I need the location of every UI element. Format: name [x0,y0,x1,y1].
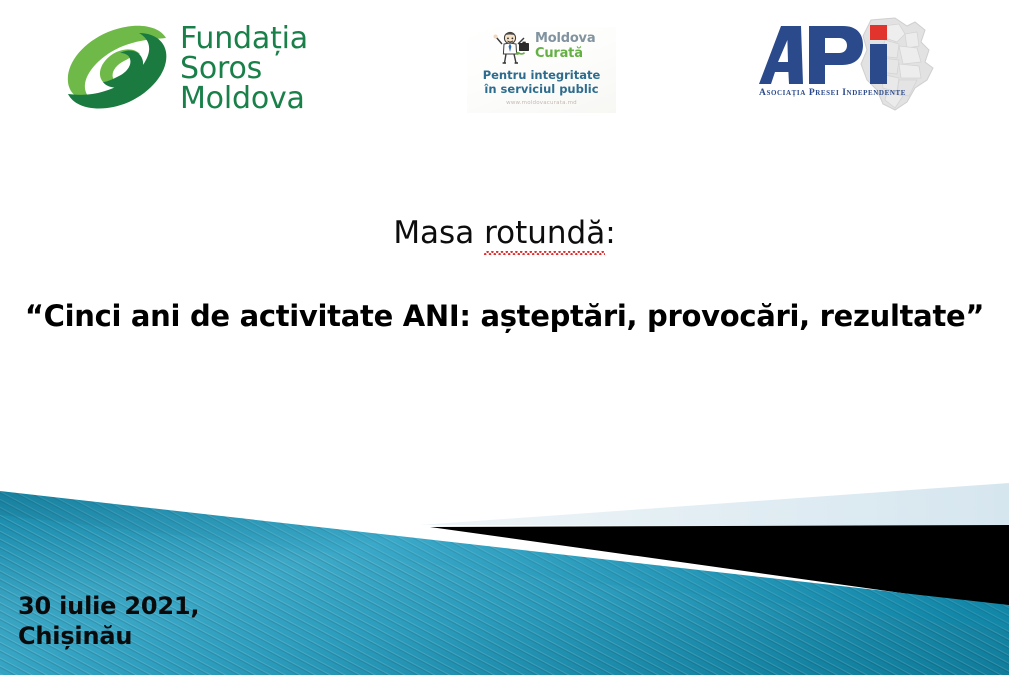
soros-wordmark-line-2: Soros [180,54,380,84]
businessman-mascot-icon [491,30,531,64]
logo-fundatia-soros-moldova: Fundația Soros Moldova [62,18,312,118]
logo-api: Asociația Presei Independente [757,16,957,114]
moldova-curata-word-moldova: Moldova [535,31,595,46]
slide-title: Masa rotundă: [0,213,1009,253]
slide-date: 30 iulie 2021, [18,591,199,621]
slide-title-suffix: : [605,215,615,251]
soros-spiral-icon [62,20,172,116]
moldova-curata-wordmark: Moldova Curată [535,31,595,61]
slide-city: Chișinău [18,621,199,651]
logo-row: Fundația Soros Moldova [0,0,1009,130]
api-acronym-lettermark [757,24,907,86]
moldova-curata-url: www.moldovacurata.md [467,100,616,106]
slide-title-misspelled-word: rotundă [484,213,605,253]
presentation-slide: Fundația Soros Moldova [0,0,1009,675]
logo-moldova-curata: Moldova Curată Pentru integritate în ser… [467,27,616,113]
moldova-curata-tagline-line-1: Pentru integritate [467,68,616,82]
slide-title-prefix: Masa [393,215,484,251]
moldova-curata-tagline-line-2: în serviciul public [467,82,616,96]
soros-wordmark-line-1: Fundația [180,24,380,54]
decorative-bottom-banner: 30 iulie 2021, Chișinău [0,475,1009,675]
soros-logo-wordmark: Fundația Soros Moldova [180,24,380,114]
slide-subtitle: “Cinci ani de activitate ANI: așteptări,… [0,296,1009,336]
moldova-curata-word-curata: Curată [535,46,595,61]
moldova-curata-header: Moldova Curată [467,29,616,65]
soros-wordmark-line-3: Moldova [180,84,380,114]
api-subtitle: Asociația Presei Independente [759,88,911,98]
moldova-curata-tagline: Pentru integritate în serviciul public [467,68,616,96]
slide-date-location: 30 iulie 2021, Chișinău [18,591,199,651]
